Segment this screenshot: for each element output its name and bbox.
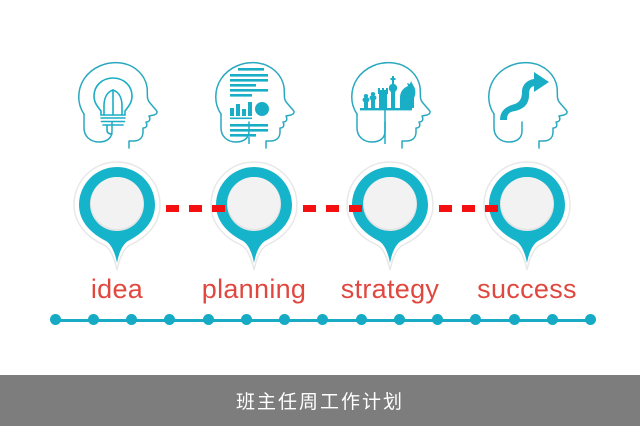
baseline-node <box>356 314 367 325</box>
step-label-strategy: strategy <box>310 272 470 306</box>
dash-segment <box>349 205 362 212</box>
timeline-baseline <box>50 314 596 326</box>
baseline-node <box>126 314 137 325</box>
connector-3-4 <box>439 205 513 212</box>
step-label-success: success <box>447 272 607 306</box>
baseline-node <box>394 314 405 325</box>
step-pin-3[interactable] <box>341 160 439 272</box>
dash-segment <box>462 205 475 212</box>
banner-title: 班主任周工作计划 <box>236 387 404 414</box>
baseline-node <box>164 314 175 325</box>
baseline-node <box>88 314 99 325</box>
dash-segment <box>303 205 316 212</box>
step-label-idea: idea <box>37 272 197 306</box>
step-label-row: idea planning strategy success <box>0 272 640 308</box>
baseline-node <box>279 314 290 325</box>
dash-segment <box>326 205 339 212</box>
step-pin-4[interactable] <box>478 160 576 272</box>
baseline-node <box>470 314 481 325</box>
dash-segment <box>189 205 202 212</box>
baseline-node <box>241 314 252 325</box>
baseline-node <box>585 314 596 325</box>
baseline-node <box>547 314 558 325</box>
baseline-node <box>317 314 328 325</box>
dash-segment <box>485 205 498 212</box>
baseline-node <box>50 314 61 325</box>
baseline-node <box>432 314 443 325</box>
baseline-node <box>509 314 520 325</box>
baseline-node <box>203 314 214 325</box>
step-pin-1[interactable] <box>68 160 166 272</box>
connector-2-3 <box>303 205 377 212</box>
head-arrow-up-icon <box>467 52 587 152</box>
head-chess-icon <box>330 52 450 152</box>
connector-1-2 <box>166 205 240 212</box>
infographic-canvas: idea planning strategy success 班主任周工作计划 <box>0 0 640 426</box>
dash-segment <box>212 205 225 212</box>
bottom-banner: 班主任周工作计划 <box>0 375 640 426</box>
step-pin-2[interactable] <box>205 160 303 272</box>
head-document-chart-icon <box>194 52 314 152</box>
dash-segment <box>166 205 179 212</box>
pin-row <box>0 160 640 275</box>
head-lightbulb-icon <box>57 52 177 152</box>
dash-segment <box>439 205 452 212</box>
head-icon-row <box>0 52 640 152</box>
